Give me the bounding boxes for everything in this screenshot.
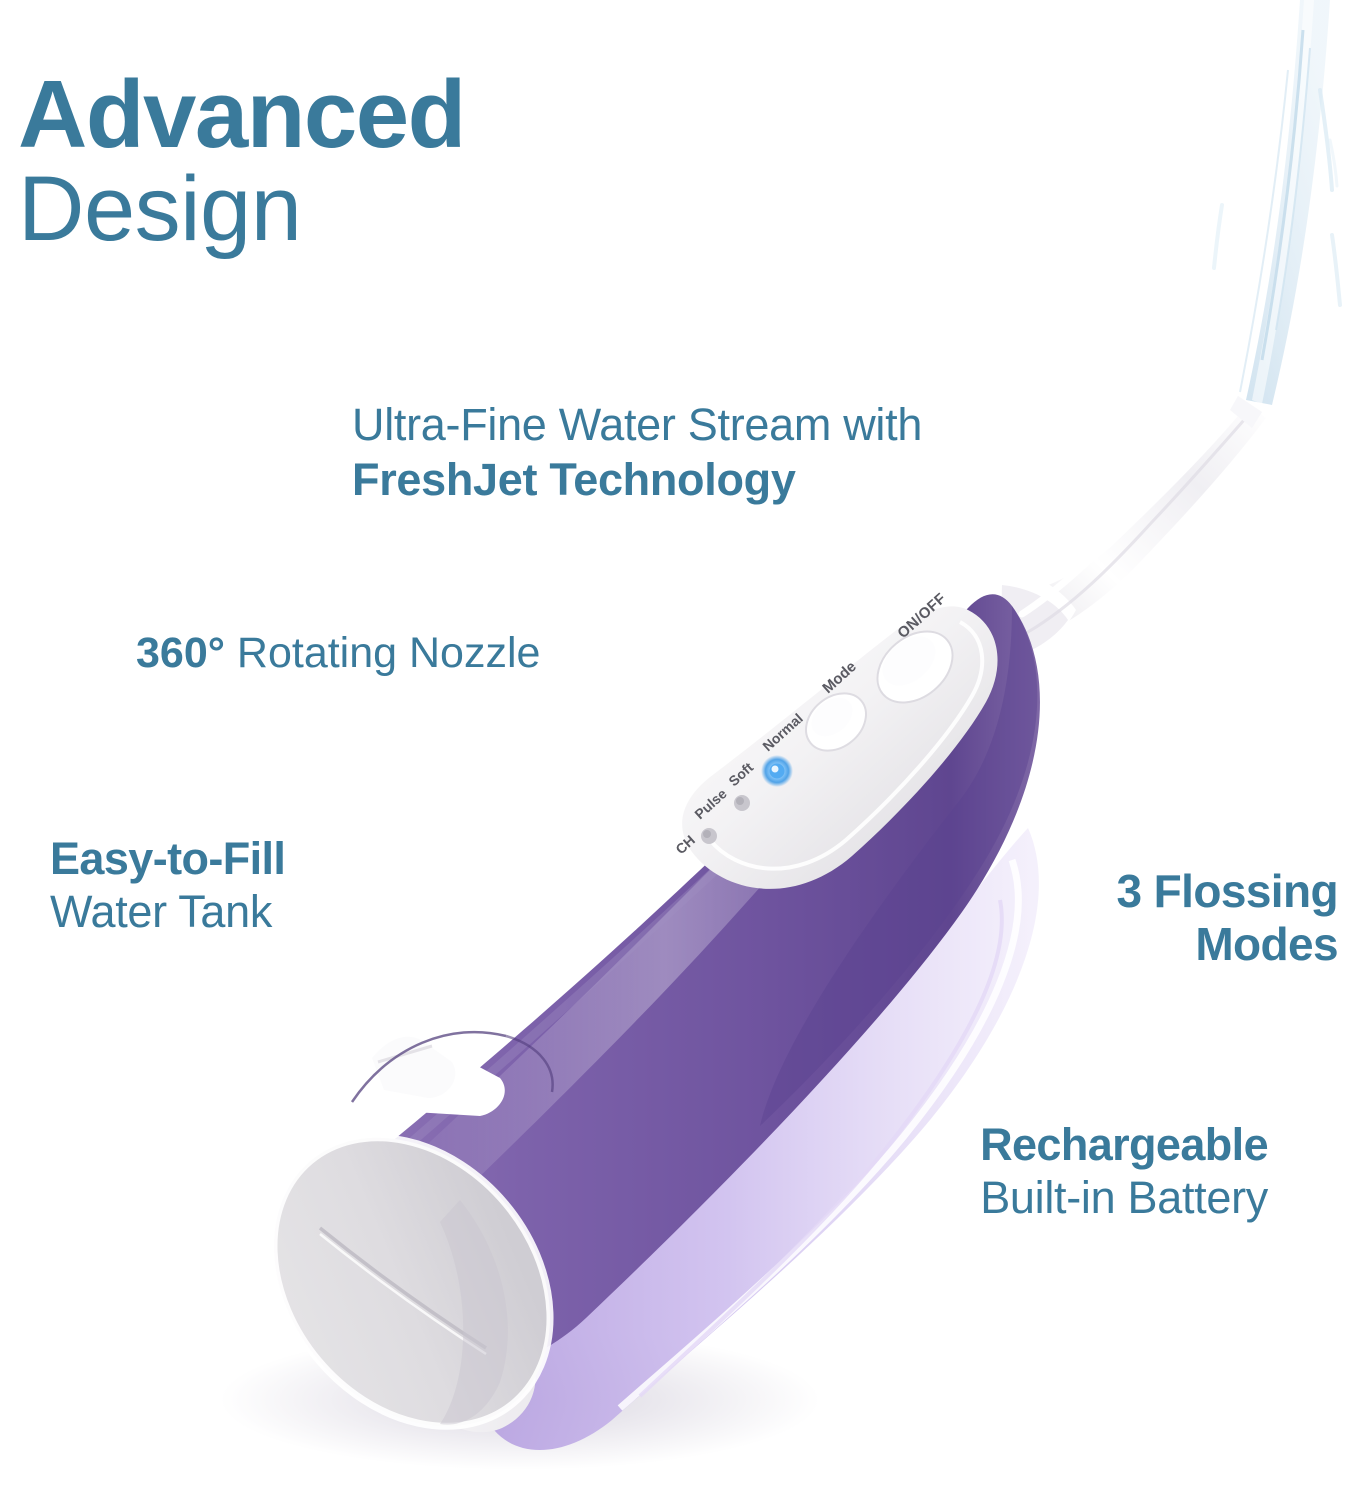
callout-nozzle-rest: Rotating Nozzle [225, 629, 541, 677]
product-shadow [220, 1330, 820, 1470]
headline-line-2: Design [18, 164, 465, 254]
mode-button [795, 682, 878, 763]
svg-text:Mode: Mode [819, 658, 859, 697]
callout-flossing-modes-line-2: Modes [1117, 918, 1339, 971]
svg-text:Pulse: Pulse [691, 785, 730, 822]
device-barrel [300, 594, 1040, 1368]
callout-water-tank-line-2: Water Tank [50, 885, 285, 938]
page-title: Advanced Design [18, 68, 465, 254]
callout-flossing-modes: 3 Flossing Modes [1117, 865, 1339, 972]
power-button-label: ON/OFF [894, 590, 949, 642]
svg-text:AquaSonic: AquaSonic [453, 848, 591, 971]
indicator-normal-label: Normal [759, 710, 806, 754]
mode-button-label: Mode [819, 658, 859, 697]
device-body: AquaSonic [300, 594, 1040, 1450]
headline-line-1: Advanced [18, 68, 465, 162]
callout-battery-line-1: Rechargeable [980, 1118, 1268, 1171]
tank-latch [352, 1032, 553, 1116]
svg-text:CH: CH [672, 832, 698, 857]
indicator-soft-label: Soft [725, 759, 756, 789]
water-stream [1214, 0, 1340, 405]
indicator-ch-label: CH [672, 832, 698, 857]
bottom-cap [217, 1083, 607, 1482]
indicator-pulse-label: Pulse [691, 785, 730, 822]
callout-flossing-modes-line-1: 3 Flossing [1117, 865, 1339, 918]
callout-nozzle-emphasis: 360° [136, 629, 225, 677]
power-button [864, 617, 967, 717]
indicator-normal [761, 755, 793, 787]
indicator-pulse [701, 828, 717, 844]
product-infographic: AquaSonic [0, 0, 1346, 1500]
nozzle [970, 396, 1266, 668]
callout-battery: Rechargeable Built-in Battery [980, 1118, 1268, 1224]
callout-water-stream-line-2: FreshJet Technology [352, 453, 922, 508]
cap-face [217, 1083, 607, 1482]
callout-water-tank-line-1: Easy-to-Fill [50, 832, 285, 885]
callout-water-stream: Ultra-Fine Water Stream with FreshJet Te… [352, 398, 922, 508]
callout-rotating-nozzle: 360° Rotating Nozzle [136, 628, 540, 680]
water-tank [470, 828, 1039, 1450]
callout-battery-line-2: Built-in Battery [980, 1171, 1268, 1224]
svg-text:ON/OFF: ON/OFF [894, 590, 949, 642]
callout-water-stream-line-1: Ultra-Fine Water Stream with [352, 398, 922, 453]
svg-text:Soft: Soft [725, 759, 756, 789]
indicator-soft [734, 795, 750, 811]
control-panel: ON/OFF Mode Normal [672, 590, 997, 889]
callout-water-tank: Easy-to-Fill Water Tank [50, 832, 285, 938]
brand-logo: AquaSonic [453, 848, 591, 971]
svg-text:Normal: Normal [759, 710, 806, 754]
